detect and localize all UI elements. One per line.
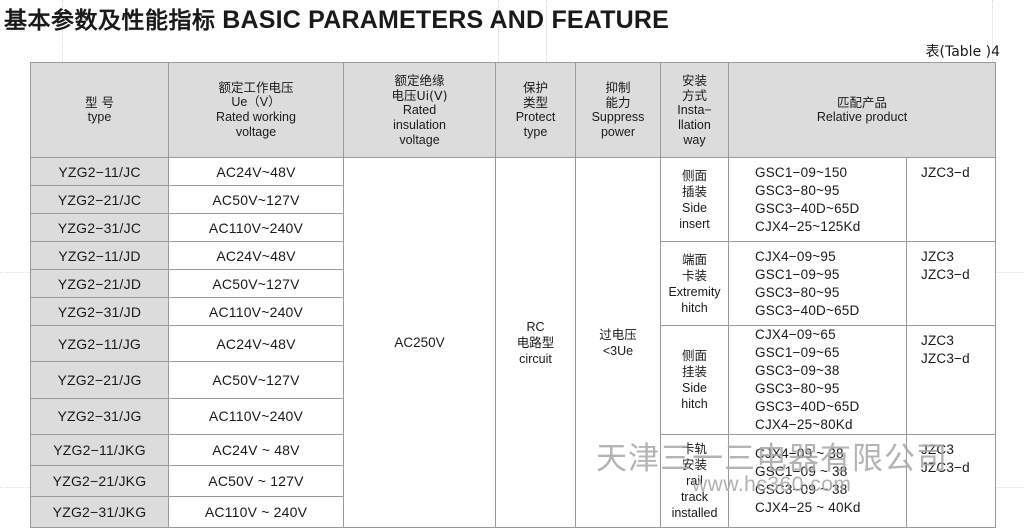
- cell-voltage: AC110V~240V: [169, 298, 344, 326]
- cell-protect-type: RC 电路型 circuit: [496, 158, 576, 528]
- product-code: GSC3−80~95: [755, 182, 906, 200]
- header-rated-insulation-voltage: 额定绝缘 电压Ui(V) Rated insulation voltage: [344, 63, 496, 158]
- cell-voltage: AC50V~127V: [169, 362, 344, 398]
- header-riv-en2: insulation: [344, 118, 495, 133]
- install-line-1: 端面: [661, 252, 728, 268]
- header-rp-cn: 匹配产品: [729, 95, 995, 110]
- header-pt-en1: Protect: [496, 110, 575, 125]
- cell-model: YZG2−11/JG: [31, 326, 169, 362]
- suppress-power-line-2: <3Ue: [576, 343, 660, 359]
- cell-model: YZG2−31/JD: [31, 298, 169, 326]
- protect-type-line-3: circuit: [496, 351, 575, 367]
- cell-model: YZG2−11/JD: [31, 242, 169, 270]
- cell-jzc-products: JZC3 JZC3−d: [907, 435, 996, 528]
- jzc-code: JZC3−d: [921, 266, 995, 284]
- jzc-code: JZC3−d: [921, 164, 995, 182]
- header-iw-en1: Insta−: [661, 103, 728, 118]
- cell-model: YZG2−31/JG: [31, 398, 169, 434]
- header-suppress-power: 抑制 能力 Suppress power: [576, 63, 661, 158]
- cell-relative-products: CJX4−09~95 GSC1−09~95 GSC3−80~95 GSC3−40…: [729, 242, 907, 326]
- product-code: CJX4−09 ~ 38: [755, 445, 906, 463]
- install-line-3: Side: [661, 200, 728, 216]
- product-code: CJX4−09~95: [755, 248, 906, 266]
- cell-model: YZG2−31/JKG: [31, 497, 169, 528]
- header-pt-cn2: 类型: [496, 95, 575, 110]
- header-sp-en2: power: [576, 125, 660, 140]
- cell-installation-way: 侧面 插装 Side insert: [661, 158, 729, 242]
- header-iw-en2: llation: [661, 118, 728, 133]
- install-line-2: 挂装: [661, 364, 728, 380]
- install-line-4: hitch: [661, 396, 728, 412]
- install-line-2: 插装: [661, 184, 728, 200]
- header-relative-product: 匹配产品 Relative product: [729, 63, 996, 158]
- cell-installation-way: 端面 卡装 Extremity hitch: [661, 242, 729, 326]
- header-sp-cn2: 能力: [576, 95, 660, 110]
- suppress-power-line-1: 过电压: [576, 327, 660, 343]
- install-line-4: insert: [661, 216, 728, 232]
- cell-jzc-products: JZC3−d: [907, 158, 996, 242]
- install-line-1: 侧面: [661, 348, 728, 364]
- cell-jzc-products: JZC3 JZC3−d: [907, 242, 996, 326]
- header-iw-cn2: 方式: [661, 88, 728, 103]
- install-line-3: Extremity: [661, 284, 728, 300]
- protect-type-line-2: 电路型: [496, 335, 575, 351]
- product-code: CJX4−25 ~ 40Kd: [755, 499, 906, 517]
- cell-relative-products: GSC1−09~150 GSC3−80~95 GSC3−40D~65D CJX4…: [729, 158, 907, 242]
- install-line-4: track: [661, 489, 728, 505]
- header-type-en: type: [31, 110, 168, 125]
- product-code: GSC3−09 ~ 38: [755, 481, 906, 499]
- header-type-cn: 型 号: [31, 95, 168, 110]
- jzc-code: JZC3: [921, 248, 995, 266]
- product-code: GSC1−09~150: [755, 164, 906, 182]
- product-code: GSC3−80~95: [755, 284, 906, 302]
- cell-model: YZG2−11/JC: [31, 158, 169, 186]
- header-iw-en3: way: [661, 133, 728, 148]
- product-code: CJX4−25~125Kd: [755, 218, 906, 236]
- header-rated-working-voltage: 额定工作电压 Ue（V） Rated working voltage: [169, 63, 344, 158]
- header-rwv-cn: 额定工作电压: [169, 80, 343, 95]
- header-rwv-en2: voltage: [169, 125, 343, 140]
- cell-voltage: AC24V~48V: [169, 158, 344, 186]
- header-protect-type: 保护 类型 Protect type: [496, 63, 576, 158]
- header-rwv-en1: Rated working: [169, 110, 343, 125]
- product-code: CJX4−09~65: [755, 326, 906, 344]
- product-code: GSC1−09~65: [755, 344, 906, 362]
- install-line-3: Side: [661, 380, 728, 396]
- header-installation-way: 安装 方式 Insta− llation way: [661, 63, 729, 158]
- install-line-4: hitch: [661, 300, 728, 316]
- install-line-2: 安装: [661, 457, 728, 473]
- cell-voltage: AC24V ~ 48V: [169, 435, 344, 466]
- cell-voltage: AC110V~240V: [169, 398, 344, 434]
- product-code: GSC3−80~95: [755, 380, 906, 398]
- header-sp-en1: Suppress: [576, 110, 660, 125]
- cell-jzc-products: JZC3 JZC3−d: [907, 326, 996, 435]
- cell-voltage: AC110V ~ 240V: [169, 497, 344, 528]
- jzc-code: JZC3−d: [921, 459, 995, 477]
- cell-model: YZG2−21/JD: [31, 270, 169, 298]
- table-row: YZG2−11/JC AC24V~48V AC250V RC 电路型 circu…: [31, 158, 996, 186]
- cell-voltage: AC50V~127V: [169, 270, 344, 298]
- install-line-5: installed: [661, 505, 728, 521]
- cell-rated-insulation-voltage: AC250V: [344, 158, 496, 528]
- specification-table: 型 号 type 额定工作电压 Ue（V） Rated working volt…: [30, 62, 996, 528]
- product-code: GSC3−09~38: [755, 362, 906, 380]
- product-code: CJX4−25~80Kd: [755, 416, 906, 434]
- header-riv-cn1: 额定绝缘: [344, 73, 495, 88]
- jzc-code: JZC3: [921, 332, 995, 350]
- install-line-1: 侧面: [661, 168, 728, 184]
- header-pt-en2: type: [496, 125, 575, 140]
- header-riv-en1: Rated: [344, 103, 495, 118]
- header-type: 型 号 type: [31, 63, 169, 158]
- cell-relative-products: CJX4−09 ~ 38 GSC1−09 ~ 38 GSC3−09 ~ 38 C…: [729, 435, 907, 528]
- page-title-cn: 基本参数及性能指标: [4, 8, 216, 34]
- install-line-2: 卡装: [661, 268, 728, 284]
- table-header-row: 型 号 type 额定工作电压 Ue（V） Rated working volt…: [31, 63, 996, 158]
- cell-installation-way: 卡轨 安装 rail track installed: [661, 435, 729, 528]
- header-iw-cn1: 安装: [661, 73, 728, 88]
- header-rwv-unit: Ue（V）: [169, 95, 343, 110]
- cell-model: YZG2−11/JKG: [31, 435, 169, 466]
- cell-installation-way: 侧面 挂装 Side hitch: [661, 326, 729, 435]
- protect-type-line-1: RC: [496, 319, 575, 335]
- cell-model: YZG2−21/JG: [31, 362, 169, 398]
- product-code: GSC3−40D~65D: [755, 200, 906, 218]
- cell-voltage: AC110V~240V: [169, 214, 344, 242]
- jzc-code: JZC3−d: [921, 350, 995, 368]
- cell-model: YZG2−31/JC: [31, 214, 169, 242]
- install-line-1: 卡轨: [661, 441, 728, 457]
- cell-voltage: AC24V~48V: [169, 242, 344, 270]
- product-code: GSC3−40D~65D: [755, 302, 906, 320]
- cell-voltage: AC50V~127V: [169, 186, 344, 214]
- page-title-en: BASIC PARAMETERS AND FEATURE: [222, 6, 669, 34]
- cell-suppress-power: 过电压 <3Ue: [576, 158, 661, 528]
- header-riv-en3: voltage: [344, 133, 495, 148]
- header-pt-cn1: 保护: [496, 80, 575, 95]
- cell-relative-products: CJX4−09~65 GSC1−09~65 GSC3−09~38 GSC3−80…: [729, 326, 907, 435]
- cell-model: YZG2−21/JC: [31, 186, 169, 214]
- product-code: GSC3−40D~65D: [755, 398, 906, 416]
- cell-voltage: AC24V~48V: [169, 326, 344, 362]
- header-rp-en: Relative product: [729, 110, 995, 125]
- install-line-3: rail: [661, 473, 728, 489]
- header-riv-cn2: 电压Ui(V): [344, 88, 495, 103]
- page-title: 基本参数及性能指标 BASIC PARAMETERS AND FEATURE: [4, 4, 669, 37]
- jzc-code: JZC3: [921, 441, 995, 459]
- header-sp-cn1: 抑制: [576, 80, 660, 95]
- table-number-label: 表(Table )4: [926, 41, 1000, 61]
- product-code: GSC1−09~95: [755, 266, 906, 284]
- product-code: GSC1−09 ~ 38: [755, 463, 906, 481]
